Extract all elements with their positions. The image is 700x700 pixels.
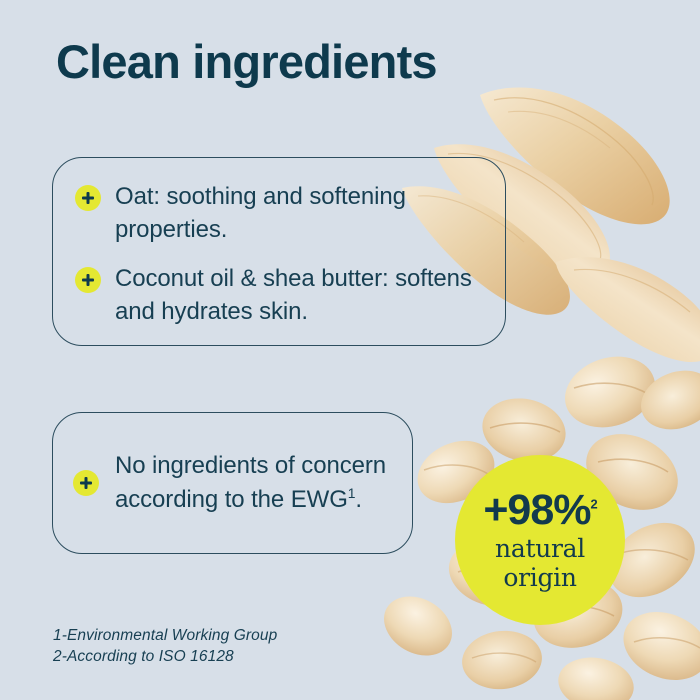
bullet-text-concern: No ingredients of concern according to t…: [115, 449, 394, 517]
concern-text-period: .: [355, 486, 362, 513]
footnotes: 1-Environmental Working Group 2-Accordin…: [53, 625, 277, 667]
badge-percent-value: +98%: [483, 486, 590, 534]
badge-percent: +98%2: [483, 489, 596, 532]
infographic-canvas: Clean ingredients Oat: soothing and soft…: [0, 0, 700, 700]
page-title: Clean ingredients: [56, 36, 437, 88]
badge-label-line1: natural: [495, 534, 585, 563]
footnote-1: 1-Environmental Working Group: [53, 625, 277, 646]
bullet-text-oat: Oat: soothing and softening properties.: [115, 180, 485, 246]
natural-origin-badge: +98%2 natural origin: [455, 455, 625, 625]
bullet-text-coconut: Coconut oil & shea butter: softens and h…: [115, 262, 485, 328]
card-concern: No ingredients of concern according to t…: [52, 412, 413, 554]
badge-label: natural origin: [495, 534, 585, 592]
plus-icon: [73, 470, 99, 496]
card-ingredients: Oat: soothing and softening properties. …: [52, 157, 506, 346]
list-item: Oat: soothing and softening properties.: [75, 180, 485, 246]
plus-icon: [75, 267, 101, 293]
footnote-marker-2: 2: [591, 496, 597, 511]
plus-icon: [75, 185, 101, 211]
list-item: Coconut oil & shea butter: softens and h…: [75, 262, 485, 328]
list-item: No ingredients of concern according to t…: [73, 449, 394, 517]
concern-text-main: No ingredients of concern according to t…: [115, 452, 386, 513]
footnote-2: 2-According to ISO 16128: [53, 646, 277, 667]
badge-label-line2: origin: [495, 563, 585, 592]
